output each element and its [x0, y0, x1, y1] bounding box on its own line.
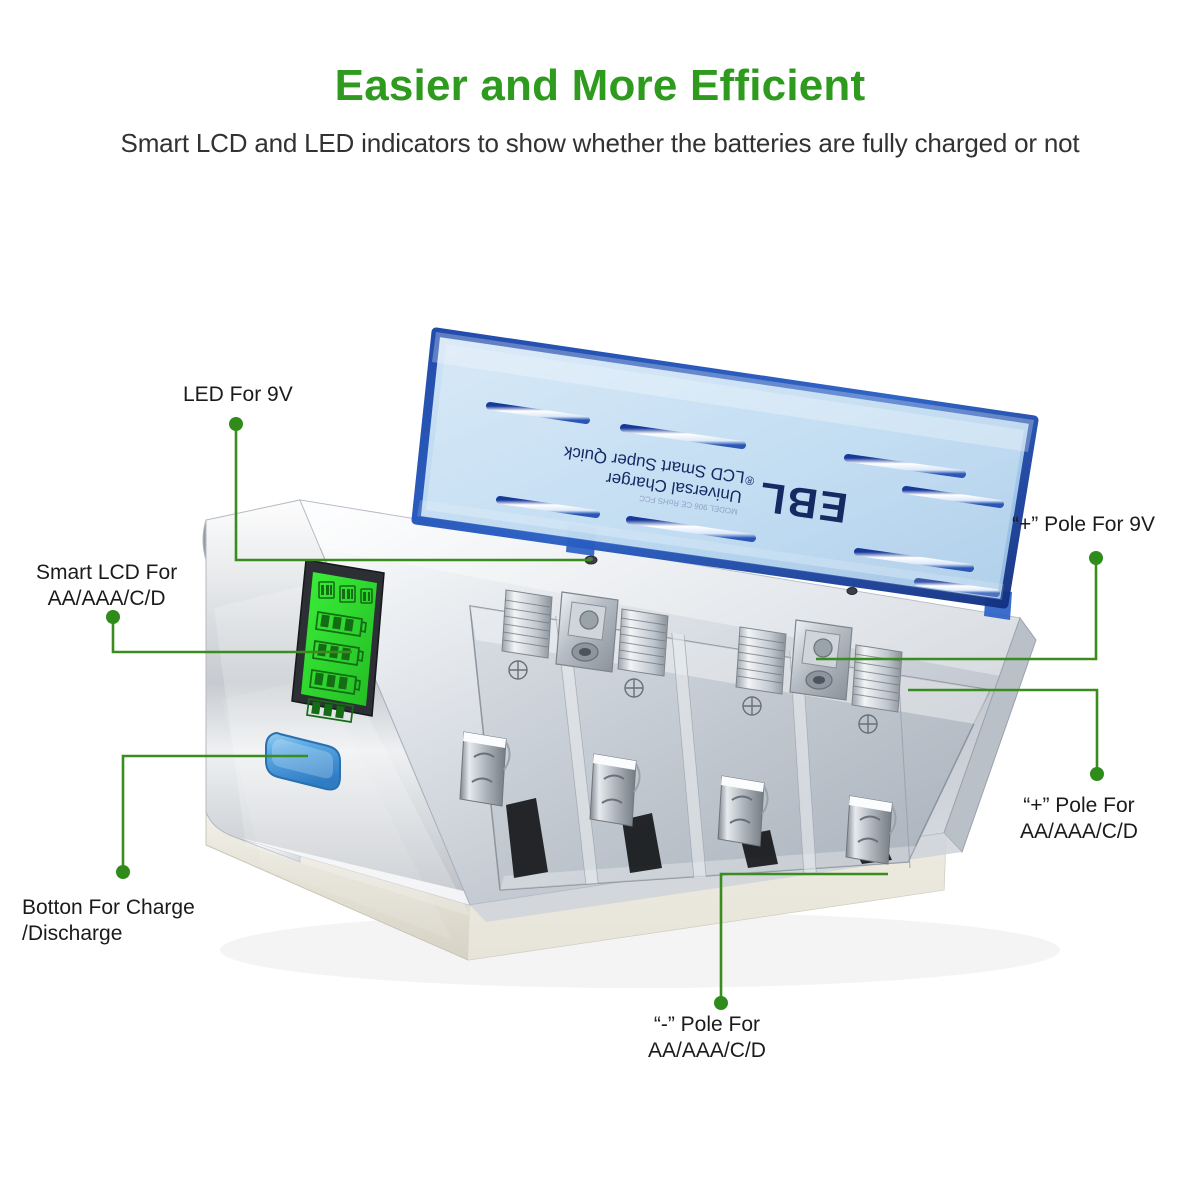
negative-spring-contact-3: [718, 776, 768, 846]
callout-label-led-for-9v: LED For 9V: [183, 382, 293, 408]
callout-line: AA/AAA/C/D: [648, 1038, 766, 1064]
callout-label-smart-lcd: Smart LCD ForAA/AAA/C/D: [36, 560, 177, 612]
callout-label-plus-pole-aa: “+” Pole ForAA/AAA/C/D: [1020, 793, 1138, 845]
nine-volt-connector-1: [556, 592, 618, 672]
callout-line: “+” Pole For: [1020, 793, 1138, 819]
callout-line: Botton For Charge: [22, 895, 195, 921]
callout-line: AA/AAA/C/D: [1020, 819, 1138, 845]
callout-line: “+” Pole For 9V: [1012, 512, 1155, 538]
battery-charger-illustration: EBL ® Universal Charger LCD Smart Super …: [0, 0, 1200, 1200]
negative-spring-contact-1: [460, 732, 510, 806]
callout-label-minus-pole-aa: “-” Pole ForAA/AAA/C/D: [648, 1012, 766, 1064]
negative-spring-contact-4: [846, 796, 896, 864]
callout-line: /Discharge: [22, 921, 195, 947]
led-indicator-secondary: [847, 588, 857, 595]
led-indicator-9v: [585, 556, 597, 564]
callout-line: LED For 9V: [183, 382, 293, 408]
callout-line: AA/AAA/C/D: [36, 586, 177, 612]
callout-line: Smart LCD For: [36, 560, 177, 586]
callout-label-button-charge-discharge: Botton For Charge/Discharge: [22, 895, 195, 947]
callout-label-plus-pole-9v: “+” Pole For 9V: [1012, 512, 1155, 538]
nine-volt-connector-2: [790, 620, 852, 700]
callout-line: “-” Pole For: [648, 1012, 766, 1038]
smart-lcd-display: [292, 560, 384, 722]
negative-spring-contact-2: [590, 754, 640, 826]
